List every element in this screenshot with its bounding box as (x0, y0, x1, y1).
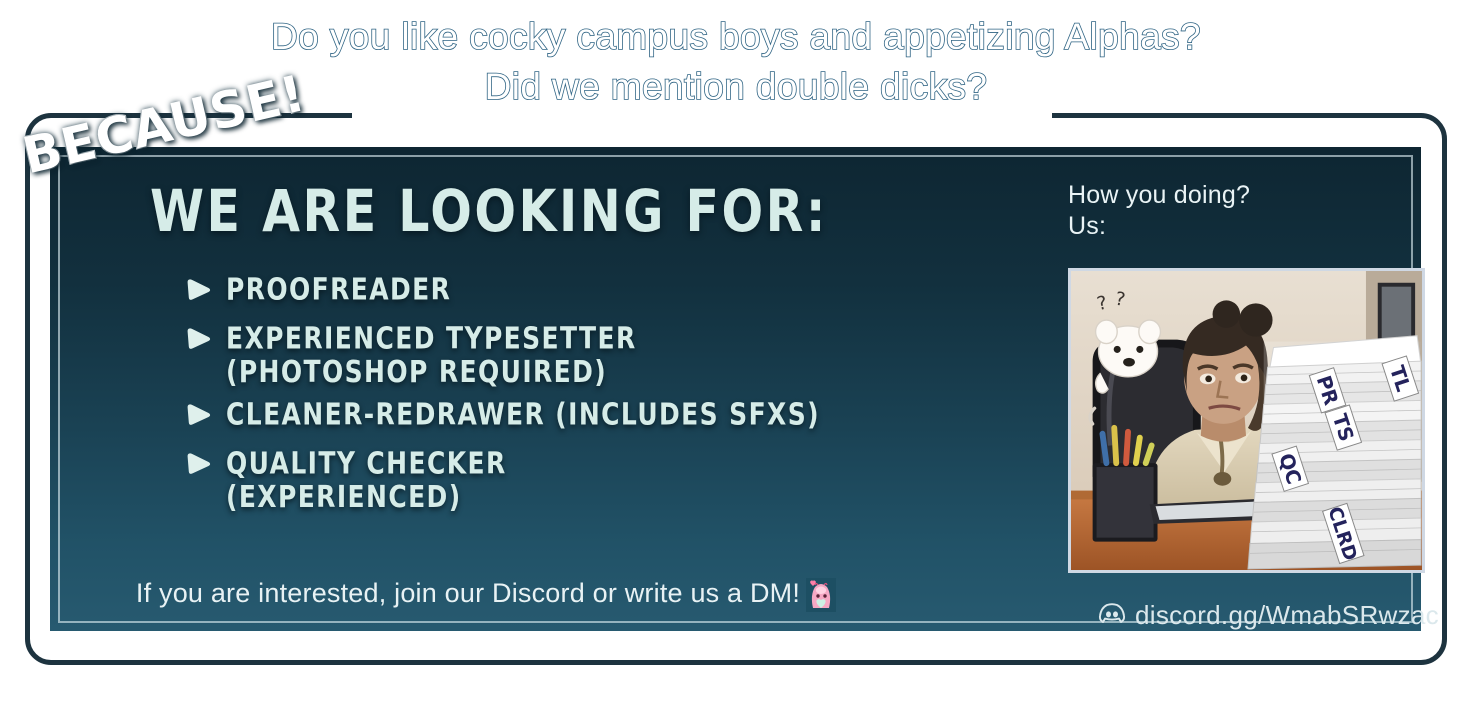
list-item: CLEANER-REDRAWER (INCLUDES SFXS) (186, 398, 898, 427)
role-label: QUALITY CHECKER (EXPERIENCED) (226, 447, 507, 514)
list-item: QUALITY CHECKER (EXPERIENCED) (186, 447, 898, 503)
role-label: CLEANER-REDRAWER (INCLUDES SFXS) (226, 398, 820, 432)
discord-invite[interactable]: discord.gg/WmabSRwzac (1098, 600, 1439, 631)
role-label: EXPERIENCED TYPESETTER (PHOTOSHOP REQUIR… (226, 322, 637, 389)
list-item: PROOFREADER (186, 273, 898, 302)
recruitment-content: WE ARE LOOKING FOR: PROOFREADER EXPERIEN… (78, 178, 898, 523)
discord-url-text[interactable]: discord.gg/WmabSRwzac (1135, 600, 1439, 631)
chevron-bullet-icon (186, 278, 212, 302)
headline-line-1: Do you like cocky campus boys and appeti… (0, 12, 1472, 62)
meme-answer: Us: (1068, 211, 1250, 242)
meme-photo: ? ? (1068, 268, 1425, 573)
frame-line-gap (352, 104, 1052, 124)
call-to-action: If you are interested, join our Discord … (66, 578, 906, 619)
role-label: PROOFREADER (226, 273, 451, 307)
list-item: EXPERIENCED TYPESETTER (PHOTOSHOP REQUIR… (186, 322, 898, 378)
meme-caption: How you doing? Us: (1068, 180, 1250, 242)
role-list: PROOFREADER EXPERIENCED TYPESETTER (PHOT… (78, 273, 898, 503)
meme-question: How you doing? (1068, 180, 1250, 211)
chevron-bullet-icon (186, 403, 212, 427)
discord-icon (1098, 603, 1126, 629)
anime-girl-emoji (806, 578, 836, 619)
chevron-bullet-icon (186, 327, 212, 351)
cta-text: If you are interested, join our Discord … (136, 578, 800, 608)
chevron-bullet-icon (186, 452, 212, 476)
page-title: WE ARE LOOKING FOR: (150, 178, 898, 245)
